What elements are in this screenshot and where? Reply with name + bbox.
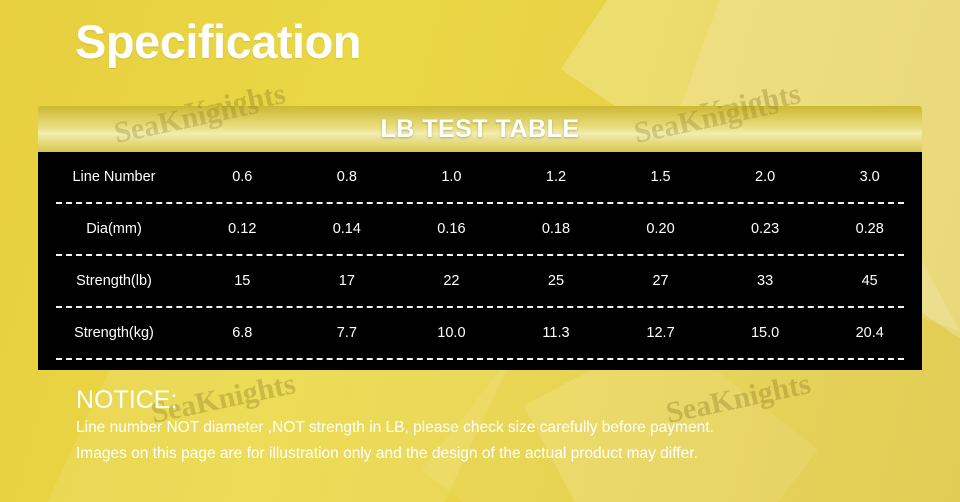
notice-line: Images on this page are for illustration…: [76, 441, 926, 467]
row-label: Line Number: [38, 152, 190, 202]
table-cell: 15: [190, 256, 295, 306]
table-cell: 15.0: [713, 308, 818, 358]
dashed-line: [56, 306, 904, 308]
table-cell: 33: [713, 256, 818, 306]
table-cell: 0.16: [399, 204, 504, 254]
table-cell: 1.2: [504, 152, 609, 202]
table-cell: 0.8: [295, 152, 400, 202]
table-cell: 0.23: [713, 204, 818, 254]
row-label: Dia(mm): [38, 204, 190, 254]
table-cell: 12.7: [608, 308, 713, 358]
table-row: Line Number 0.6 0.8 1.0 1.2 1.5 2.0 3.0: [38, 152, 922, 202]
table-cell: 1.5: [608, 152, 713, 202]
table-cell: 11.3: [504, 308, 609, 358]
notice-line: Line number NOT diameter ,NOT strength i…: [76, 415, 926, 441]
dashed-line: [56, 202, 904, 204]
table-row: Dia(mm) 0.12 0.14 0.16 0.18 0.20 0.23 0.…: [38, 204, 922, 254]
row-divider: [38, 254, 922, 256]
table-cell: 22: [399, 256, 504, 306]
table-cell: 10.0: [399, 308, 504, 358]
row-label: Strength(kg): [38, 308, 190, 358]
table-cell: 3.0: [817, 152, 922, 202]
table-cell: 7.7: [295, 308, 400, 358]
table-row: Strength(lb) 15 17 22 25 27 33 45: [38, 256, 922, 306]
table-body: Line Number 0.6 0.8 1.0 1.2 1.5 2.0 3.0 …: [38, 152, 922, 370]
table-row: Strength(kg) 6.8 7.7 10.0 11.3 12.7 15.0…: [38, 308, 922, 358]
page-title: Specification: [75, 14, 361, 69]
dashed-line: [56, 254, 904, 256]
row-divider: [38, 202, 922, 204]
table-header-bar: SeaKnights SeaKnights LB TEST TABLE: [38, 106, 922, 152]
table-cell: 0.28: [817, 204, 922, 254]
table-cell: 0.12: [190, 204, 295, 254]
row-label: Strength(lb): [38, 256, 190, 306]
table-cell: 20.4: [817, 308, 922, 358]
table-cell: 0.14: [295, 204, 400, 254]
spec-table-card: SeaKnights SeaKnights LB TEST TABLE Line…: [38, 106, 922, 370]
spec-table: Line Number 0.6 0.8 1.0 1.2 1.5 2.0 3.0 …: [38, 152, 922, 360]
table-cell: 25: [504, 256, 609, 306]
row-divider: [38, 306, 922, 308]
notice-title: NOTICE:: [76, 385, 926, 415]
table-title: LB TEST TABLE: [380, 115, 579, 144]
watermark: SeaKnights: [111, 106, 262, 151]
table-cell: 0.18: [504, 204, 609, 254]
table-cell: 1.0: [399, 152, 504, 202]
dashed-line: [56, 358, 904, 360]
table-cell: 0.20: [608, 204, 713, 254]
table-cell: 0.6: [190, 152, 295, 202]
table-cell: 17: [295, 256, 400, 306]
row-divider: [38, 358, 922, 360]
table-cell: 27: [608, 256, 713, 306]
table-cell: 2.0: [713, 152, 818, 202]
table-cell: 6.8: [190, 308, 295, 358]
table-cell: 45: [817, 256, 922, 306]
watermark: SeaKnights: [631, 106, 782, 151]
notice-block: NOTICE: Line number NOT diameter ,NOT st…: [76, 385, 926, 467]
